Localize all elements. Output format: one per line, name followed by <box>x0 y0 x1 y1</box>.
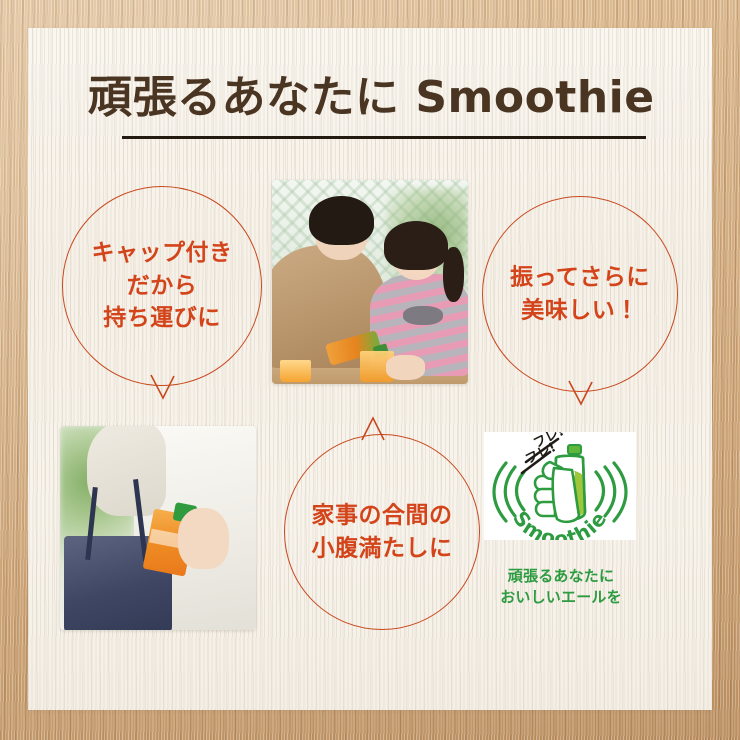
promo-banner: 頑張るあなたに Smoothie <box>0 0 740 740</box>
title-underline <box>122 136 646 139</box>
smoothie-logo-icon: フレ! フレ! <box>484 432 636 540</box>
photo-family-pouring <box>272 180 468 384</box>
smoothie-logo-card: フレ! フレ! <box>484 432 636 540</box>
bubble-tail-up <box>360 416 386 442</box>
bubble-text-snack: 家事の合間の 小腹満たしに <box>284 499 480 564</box>
logo-tagline: 頑張るあなたに おいしいエールを <box>470 566 652 609</box>
speech-bubble-snack: 家事の合間の 小腹満たしに <box>284 434 480 630</box>
bubble-tail-down <box>150 374 176 400</box>
bubble-tail-down <box>568 380 594 406</box>
speech-bubble-cap: キャップ付き だから 持ち運びに <box>62 186 262 386</box>
bubble-text-cap: キャップ付き だから 持ち運びに <box>62 237 262 335</box>
page-title: 頑張るあなたに Smoothie <box>88 60 668 126</box>
speech-bubble-shake: 振ってさらに 美味しい！ <box>482 196 678 392</box>
photo-bag-pouch <box>60 426 256 630</box>
bubble-text-shake: 振ってさらに 美味しい！ <box>482 261 678 326</box>
